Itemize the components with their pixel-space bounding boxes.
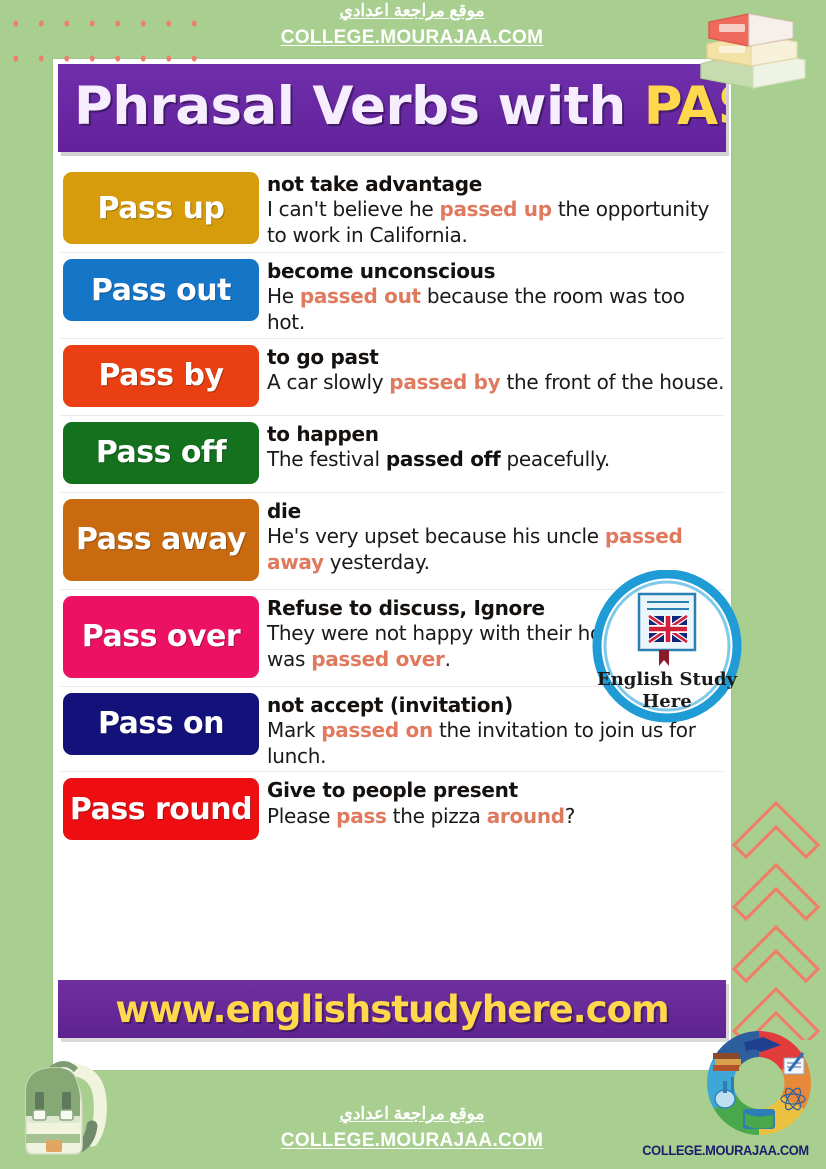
watermark-arabic-text-bottom: موقع مراجعة اعدادي [340, 1101, 485, 1127]
example-segment: yesterday. [324, 550, 430, 574]
verb-example: He's very upset because his uncle passed… [267, 524, 725, 575]
phrasal-verb-row: Pass roundGive to people presentPlease p… [59, 772, 725, 848]
verb-example: A car slowly passed by the front of the … [267, 370, 725, 396]
verb-body: Give to people presentPlease pass the pi… [267, 772, 725, 829]
verb-chip-pass-by[interactable]: Pass by [63, 345, 259, 407]
example-segment: passed up [439, 197, 551, 221]
poster-card: Phrasal Verbs with PASS Pass upnot take … [53, 59, 731, 1070]
verb-meaning: not accept (invitation) [267, 693, 725, 717]
watermark-bottom: موقع مراجعة اعدادي COLLEGE.MOURAJAA.COM [262, 1085, 562, 1163]
phrasal-verb-row: Pass byto go pastA car slowly passed by … [59, 339, 725, 415]
watermark-corner: COLLEGE.MOURAJAA.COM [642, 1142, 809, 1158]
example-segment: Mark [267, 718, 321, 742]
footer-url: www.englishstudyhere.com [115, 988, 668, 1031]
verb-meaning: not take advantage [267, 172, 725, 196]
verb-body: to happenThe festival passed off peacefu… [267, 416, 725, 473]
watermark-english-text: COLLEGE.MOURAJAA.COM [281, 24, 544, 53]
phrasal-verb-row: Pass awaydieHe's very upset because his … [59, 493, 725, 589]
education-ring-icon [697, 1023, 821, 1141]
verb-meaning: Give to people present [267, 778, 725, 802]
example-segment: A car slowly [267, 370, 389, 394]
verb-example: The festival passed off peacefully. [267, 447, 725, 473]
example-segment: passed on [321, 718, 433, 742]
verb-example: He passed out because the room was too h… [267, 284, 725, 335]
example-segment: around [487, 804, 565, 828]
verb-example: I can't believe he passed up the opportu… [267, 197, 725, 248]
example-segment: passed off [386, 447, 501, 471]
verb-meaning: to go past [267, 345, 725, 369]
verb-body: not take advantageI can't believe he pas… [267, 166, 725, 249]
verb-meaning: Refuse to discuss, Ignore [267, 596, 725, 620]
verb-chip-pass-away[interactable]: Pass away [63, 499, 259, 581]
example-segment: . [445, 647, 451, 671]
example-segment: The festival [267, 447, 386, 471]
verb-example: Mark passed on the invitation to join us… [267, 718, 725, 769]
verb-body: not accept (invitation)Mark passed on th… [267, 687, 725, 770]
dot-grid-decoration [0, 0, 212, 62]
example-segment: peacefully. [500, 447, 610, 471]
phrasal-verb-row: Pass overRefuse to discuss, IgnoreThey w… [59, 590, 725, 686]
verb-chip-pass-over[interactable]: Pass over [63, 596, 259, 678]
example-segment: pass [336, 804, 386, 828]
backpack-icon [6, 1048, 124, 1164]
verb-chip-pass-off[interactable]: Pass off [63, 422, 259, 484]
verb-body: become unconsciousHe passed out because … [267, 253, 725, 336]
verb-body: to go pastA car slowly passed by the fro… [267, 339, 725, 396]
example-segment: passed by [389, 370, 500, 394]
example-segment: the pizza [387, 804, 487, 828]
example-segment: passed over [311, 647, 444, 671]
example-segment: I can't believe he [267, 197, 439, 221]
title-plain: Phrasal Verbs with [74, 76, 644, 137]
verb-chip-pass-on[interactable]: Pass on [63, 693, 259, 755]
verb-body: Refuse to discuss, IgnoreThey were not h… [267, 590, 725, 673]
example-segment: He's very upset because his uncle [267, 524, 605, 548]
verb-meaning: become unconscious [267, 259, 725, 283]
watermark-arabic-text: موقع مراجعة اعدادي [340, 0, 485, 24]
phrasal-verb-row: Pass onnot accept (invitation)Mark passe… [59, 687, 725, 772]
verb-meaning: to happen [267, 422, 725, 446]
example-segment: Please [267, 804, 336, 828]
verb-example: They were not happy with their home, but… [267, 621, 725, 672]
verb-chip-pass-up[interactable]: Pass up [63, 172, 259, 244]
chevron-up-arrows-decoration [726, 795, 826, 1040]
books-stack-icon [693, 4, 813, 92]
phrasal-verb-row: Pass upnot take advantageI can't believe… [59, 166, 725, 252]
example-segment: ? [565, 804, 575, 828]
footer-band: www.englishstudyhere.com [58, 980, 726, 1038]
example-segment: passed out [300, 284, 421, 308]
verb-body: dieHe's very upset because his uncle pas… [267, 493, 725, 576]
verb-chip-pass-round[interactable]: Pass round [63, 778, 259, 840]
phrasal-verb-row: Pass offto happenThe festival passed off… [59, 416, 725, 492]
verb-meaning: die [267, 499, 725, 523]
example-segment: He [267, 284, 300, 308]
phrasal-verb-list: Pass upnot take advantageI can't believe… [53, 152, 731, 848]
example-segment: the front of the house. [500, 370, 724, 394]
watermark-top: موقع مراجعة اعدادي COLLEGE.MOURAJAA.COM [263, 0, 561, 54]
watermark-english-text-bottom: COLLEGE.MOURAJAA.COM [281, 1127, 544, 1156]
verb-example: Please pass the pizza around? [267, 804, 725, 830]
phrasal-verb-row: Pass outbecome unconsciousHe passed out … [59, 253, 725, 338]
verb-chip-pass-out[interactable]: Pass out [63, 259, 259, 321]
poster-title-band: Phrasal Verbs with PASS [58, 64, 726, 152]
page-title: Phrasal Verbs with PASS [74, 72, 726, 142]
